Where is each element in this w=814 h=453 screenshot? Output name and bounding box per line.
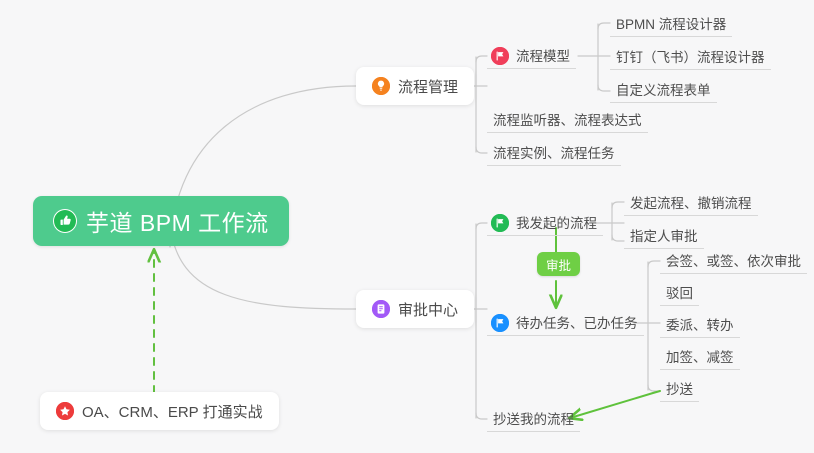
branch-node-approval-center[interactable]: 审批中心 <box>356 290 474 328</box>
lightbulb-icon <box>372 77 390 95</box>
node-label: 自定义流程表单 <box>616 79 711 99</box>
branch-node-process-management[interactable]: 流程管理 <box>356 67 474 105</box>
star-icon <box>56 402 74 420</box>
node-todo-done-tasks[interactable]: 待办任务、已办任务 <box>487 308 644 336</box>
flag-icon <box>491 314 509 332</box>
node-label: 流程实例、流程任务 <box>493 142 615 162</box>
node-my-initiated-process[interactable]: 我发起的流程 <box>487 208 603 236</box>
clipboard-icon <box>372 300 390 318</box>
node-label: 流程模型 <box>516 45 570 65</box>
node-process-model[interactable]: 流程模型 <box>487 41 576 69</box>
node-cc[interactable]: 抄送 <box>660 374 699 402</box>
branch-label: 审批中心 <box>398 299 458 320</box>
node-process-listener-expression[interactable]: 流程监听器、流程表达式 <box>487 105 648 133</box>
node-label: 指定人审批 <box>630 225 698 245</box>
node-label: BPMN 流程设计器 <box>616 13 726 33</box>
node-label: 加签、减签 <box>666 346 734 366</box>
node-countersign-orsign-sequential[interactable]: 会签、或签、依次审批 <box>660 246 807 274</box>
node-reject[interactable]: 驳回 <box>660 278 699 306</box>
node-label: 流程监听器、流程表达式 <box>493 109 642 129</box>
approval-flow-tag-label: 审批 <box>546 255 571 274</box>
node-label: 委派、转办 <box>666 314 734 334</box>
node-process-instance-task[interactable]: 流程实例、流程任务 <box>487 138 621 166</box>
node-label: 待办任务、已办任务 <box>516 312 638 332</box>
node-bpmn-designer[interactable]: BPMN 流程设计器 <box>610 9 732 37</box>
node-cc-to-me-process[interactable]: 抄送我的流程 <box>487 404 580 432</box>
root-label: 芋道 BPM 工作流 <box>86 204 269 238</box>
node-label: 我发起的流程 <box>516 212 597 232</box>
node-label: 抄送我的流程 <box>493 408 574 428</box>
node-label: 驳回 <box>666 282 693 302</box>
floating-node-oa-crm-erp[interactable]: OA、CRM、ERP 打通实战 <box>40 392 279 430</box>
branch-label: 流程管理 <box>398 76 458 97</box>
root-node[interactable]: 芋道 BPM 工作流 <box>33 196 289 246</box>
node-label: 钉钉（飞书）流程设计器 <box>616 46 765 66</box>
node-dingtalk-feishu-designer[interactable]: 钉钉（飞书）流程设计器 <box>610 42 771 70</box>
flag-icon <box>491 214 509 232</box>
node-delegate-transfer[interactable]: 委派、转办 <box>660 310 740 338</box>
node-add-remove-sign[interactable]: 加签、减签 <box>660 342 740 370</box>
node-assignee-approval[interactable]: 指定人审批 <box>624 221 704 249</box>
approval-flow-tag: 审批 <box>537 252 580 276</box>
thumbs-up-icon <box>53 209 77 233</box>
node-label: 发起流程、撤销流程 <box>630 192 752 212</box>
node-label: 抄送 <box>666 378 693 398</box>
node-label: 会签、或签、依次审批 <box>666 250 801 270</box>
floating-node-label: OA、CRM、ERP 打通实战 <box>82 401 263 422</box>
mindmap-canvas: 芋道 BPM 工作流 流程管理 流程模型 BPMN 流程设计器 钉钉（飞书）流程 <box>0 0 814 453</box>
flag-icon <box>491 47 509 65</box>
node-custom-process-form[interactable]: 自定义流程表单 <box>610 75 717 103</box>
node-start-cancel-process[interactable]: 发起流程、撤销流程 <box>624 188 758 216</box>
